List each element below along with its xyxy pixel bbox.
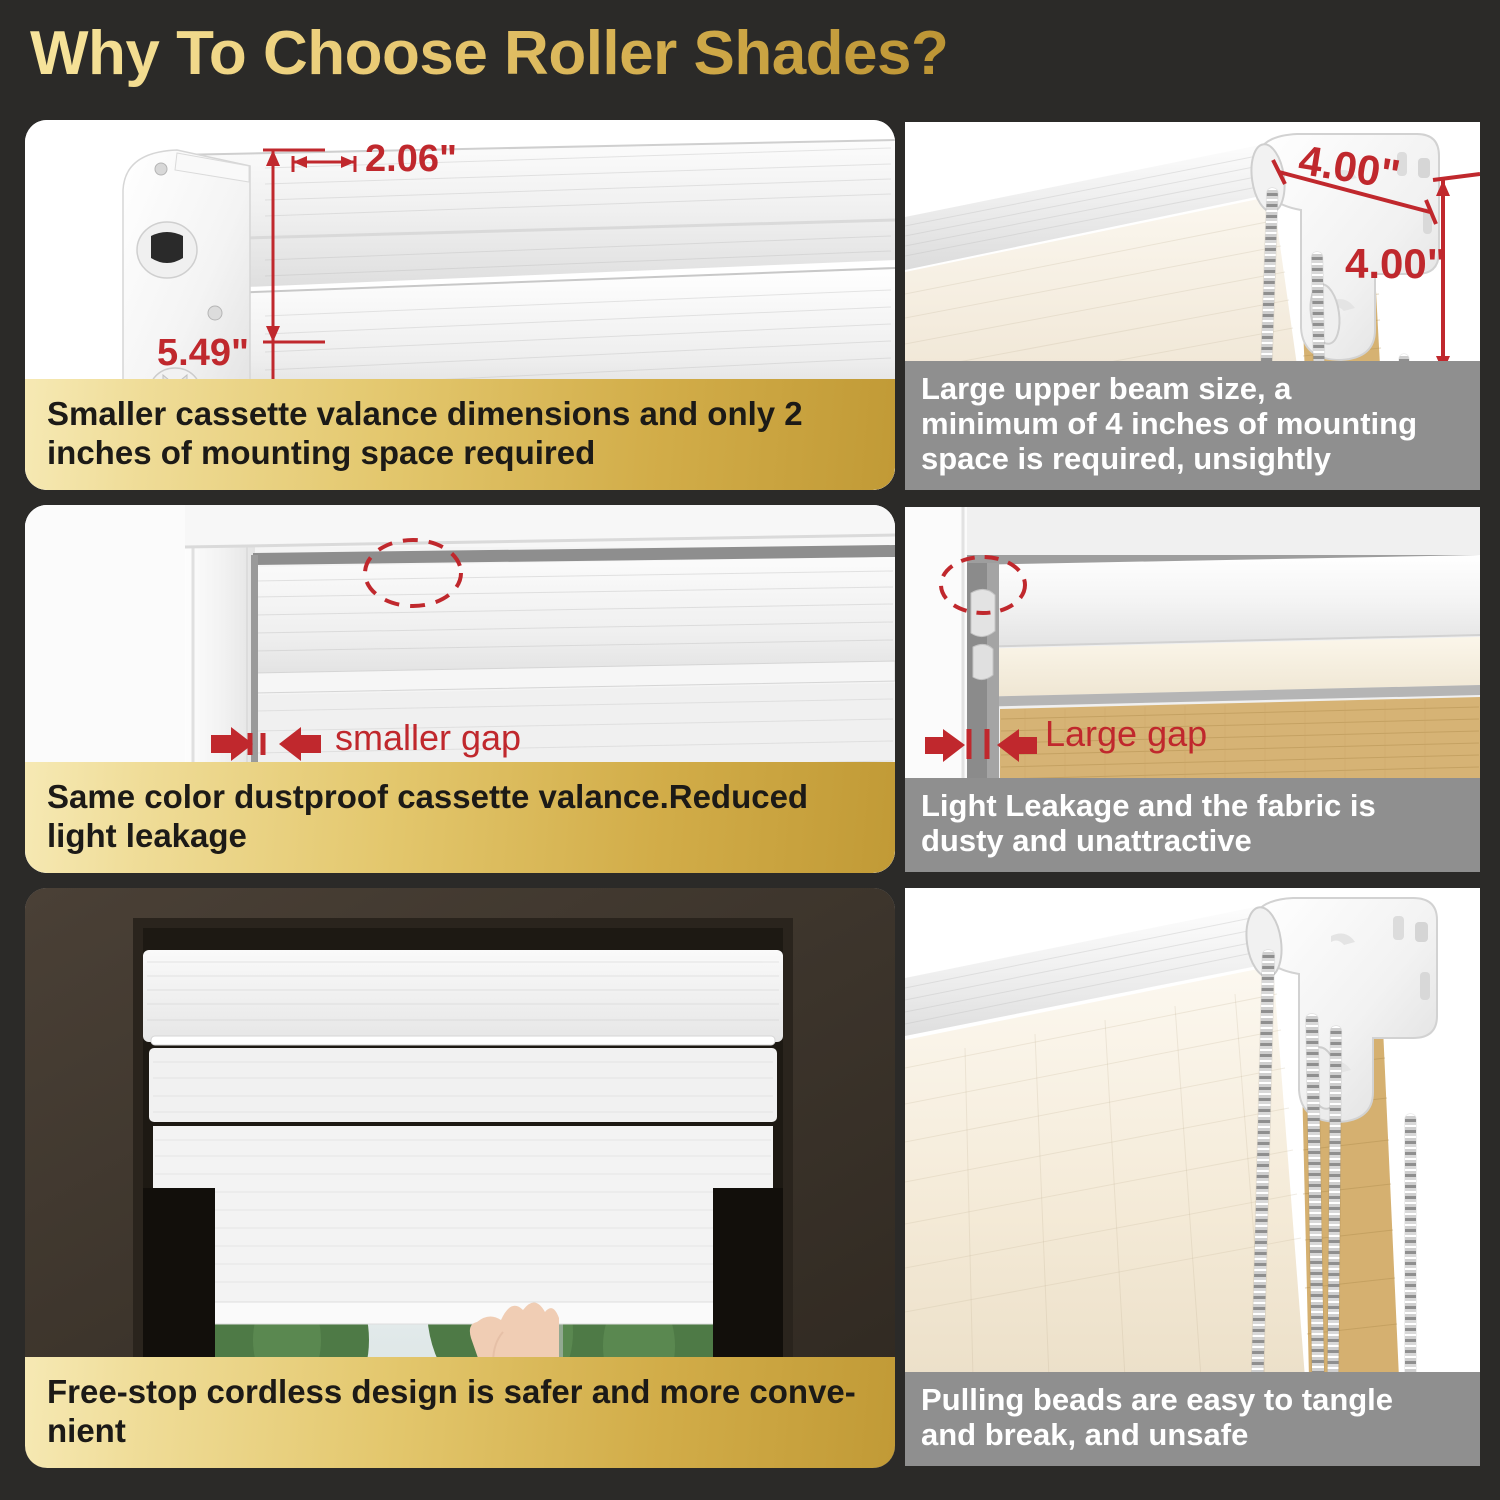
panel-cordless-design: Free-stop cordless design is safer and m… xyxy=(25,888,895,1468)
panel-smaller-cassette: 2.06" 5.49" Smaller cassette valance dim… xyxy=(25,120,895,490)
caption-panel-6: Pulling beads are easy to tangle and bre… xyxy=(905,1372,1480,1466)
caption-line-2: and break, and unsafe xyxy=(921,1417,1464,1452)
caption-line-2: dusty and unattractive xyxy=(921,823,1464,858)
caption-line-2: nient xyxy=(47,1412,873,1450)
annotation-height-206: 2.06" xyxy=(365,138,457,181)
annotation-beam-height-400: 4.00" xyxy=(1345,240,1447,288)
bead-chain-right xyxy=(1405,1114,1416,1378)
caption-panel-4: Light Leakage and the fabric is dusty an… xyxy=(905,778,1480,872)
caption-line-1: Light Leakage and the fabric is xyxy=(921,788,1464,823)
caption-line-2: inches of mounting space required xyxy=(47,434,873,472)
caption-line-1: Free-stop cordless design is safer and m… xyxy=(47,1373,873,1411)
caption-line-2: minimum of 4 inches of mounting xyxy=(921,406,1464,441)
annotation-large-gap: Large gap xyxy=(1045,713,1207,755)
caption-panel-1: Smaller cassette valance dimensions and … xyxy=(25,379,895,490)
panel-pulling-beads: Pulling beads are easy to tangle and bre… xyxy=(905,888,1480,1466)
caption-line-1: Smaller cassette valance dimensions and … xyxy=(47,395,873,433)
panel-large-gap: Large gap Light Leakage and the fabric i… xyxy=(905,507,1480,872)
caption-panel-2: Large upper beam size, a minimum of 4 in… xyxy=(905,361,1480,490)
panel-large-upper-beam: 4.00" 4.00" Large upper beam size, a min… xyxy=(905,122,1480,490)
annotation-height-549: 5.49" xyxy=(157,332,249,375)
panel-smaller-gap: smaller gap Same color dustproof cassett… xyxy=(25,505,895,873)
page-title: Why To Choose Roller Shades? xyxy=(30,18,948,89)
caption-line-2: light leakage xyxy=(47,817,873,855)
caption-line-1: Large upper beam size, a xyxy=(921,371,1464,406)
caption-line-1: Pulling beads are easy to tangle xyxy=(921,1382,1464,1417)
caption-panel-5: Free-stop cordless design is safer and m… xyxy=(25,1357,895,1468)
caption-panel-3: Same color dustproof cassette valance.Re… xyxy=(25,762,895,873)
caption-line-3: space is required, unsightly xyxy=(921,441,1464,476)
caption-line-1: Same color dustproof cassette valance.Re… xyxy=(47,778,873,816)
annotation-smaller-gap: smaller gap xyxy=(335,717,521,759)
